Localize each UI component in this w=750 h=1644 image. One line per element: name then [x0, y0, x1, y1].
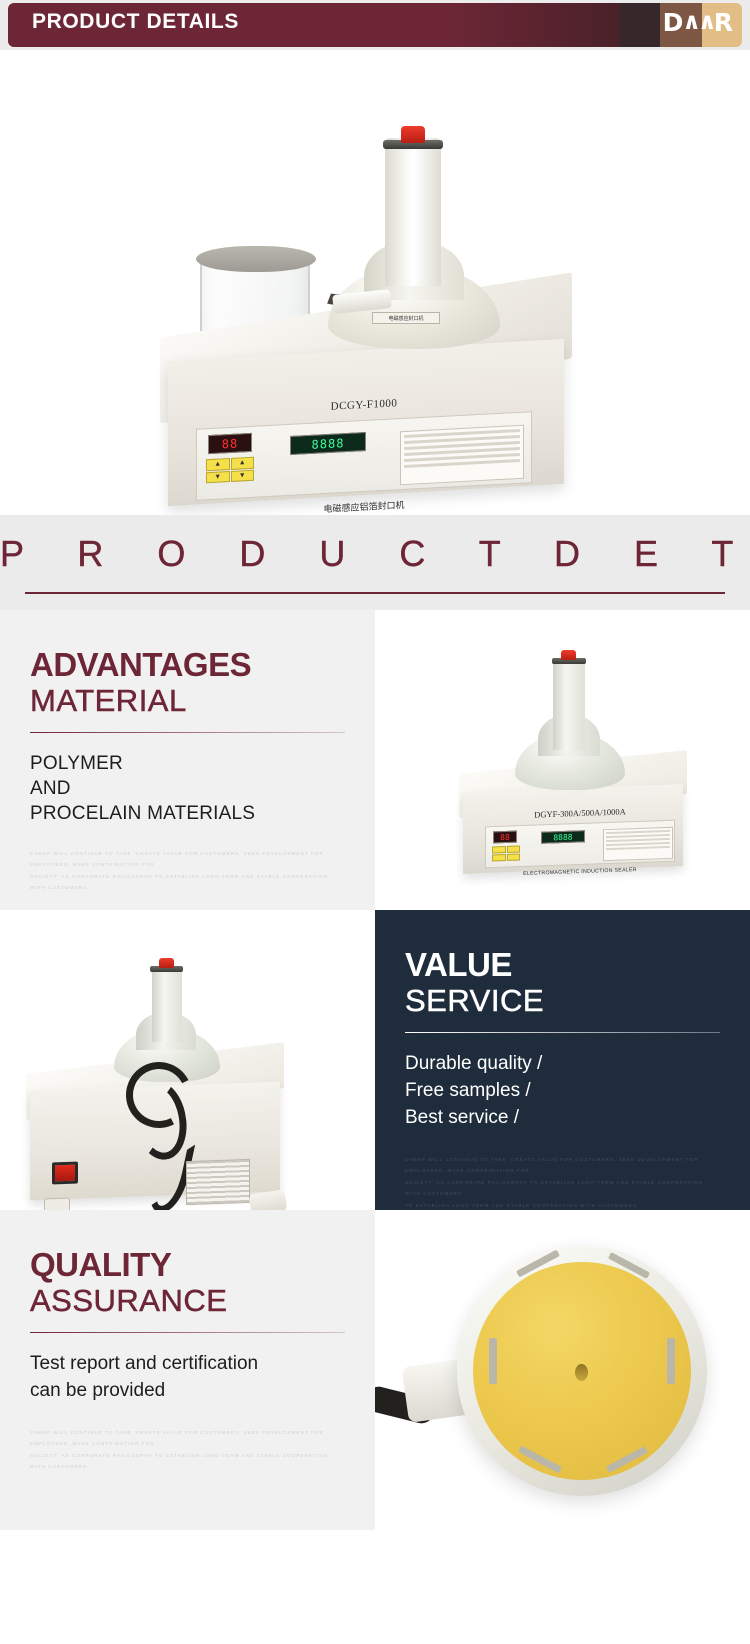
fineprint-line-3: TO ESTABLISH LONG-TERM AND STABLE COOPER…: [405, 1200, 720, 1210]
ring-slot-left: [489, 1338, 497, 1384]
detail-grid: ADVANTAGES MATERIAL POLYMER AND PROCELAI…: [0, 610, 750, 1644]
advantages-body-line-2: AND: [30, 776, 345, 801]
machine2-keypad[interactable]: [492, 846, 520, 862]
machine2-red-led: 88: [493, 831, 517, 844]
value-divider: [405, 1032, 720, 1033]
fineprint-line-2: SOCIETY’ AS CORPORATE PHILOSOPHY TO ESTA…: [30, 1450, 345, 1473]
quality-text-block: QUALITY ASSURANCE Test report and certif…: [0, 1210, 375, 1473]
machine2-instruction-plate: [603, 827, 673, 861]
hero-product-photo: 电磁感应封口机 DCGY-F1000 88 8888 ▲ ▲ ▼ ▼: [0, 50, 750, 515]
product-detail-page: PRODUCT DETAILS D∧∧R 电磁感应封口机 DCGY-F1000 …: [0, 0, 750, 1644]
machine3-red-button[interactable]: [159, 958, 174, 968]
value-text-block: VALUE SERVICE Durable quality / Free sam…: [375, 910, 750, 1210]
fineprint-line-1: CHENF WILL CONTINUE TO TAKE ‘CREATE VALU…: [30, 848, 345, 871]
page-title: PRODUCT DETAILS: [32, 0, 239, 44]
value-body-line-2: Free samples /: [405, 1078, 720, 1105]
value-text-cell: VALUE SERVICE Durable quality / Free sam…: [375, 910, 750, 1210]
quality-divider: [30, 1332, 345, 1333]
machine3-head-neck: [152, 966, 182, 1042]
machine-rear-photo-cell: [0, 910, 375, 1210]
machine2-green-led: 8888: [541, 830, 585, 844]
fineprint-line-1: CHENF WILL CONTINUE TO TAKE ‘CREATE VALU…: [405, 1154, 720, 1177]
brand-logo: D∧∧R: [663, 0, 732, 44]
advantages-body-line-3: PROCELAIN MATERIALS: [30, 801, 345, 826]
top-header-bar: PRODUCT DETAILS D∧∧R: [0, 0, 750, 50]
advantages-text-block: ADVANTAGES MATERIAL POLYMER AND PROCELAI…: [0, 610, 375, 894]
advantages-body-line-1: POLYMER: [30, 751, 345, 776]
logo-letter-d: D: [663, 8, 683, 37]
instruction-plate: [400, 425, 524, 485]
machine-front-photo-cell: DGYF-300A/500A/1000A 88 8888 ELE: [375, 610, 750, 910]
value-body-line-1: Durable quality /: [405, 1051, 720, 1078]
machine2-head-neck: [553, 658, 585, 750]
quality-heading: QUALITY: [30, 1248, 345, 1282]
quality-body-line-2: can be provided: [30, 1378, 345, 1405]
sealing-head-neck: [385, 138, 441, 286]
arrow-keypad[interactable]: ▲ ▲ ▼ ▼: [206, 457, 254, 484]
rocker-power-switch[interactable]: [52, 1162, 78, 1185]
green-led-display: 8888: [290, 432, 366, 455]
section-title-band: P R O D U C T D E T A I L: [0, 515, 750, 610]
advantages-text-cell: ADVANTAGES MATERIAL POLYMER AND PROCELAI…: [0, 610, 375, 910]
section-title: P R O D U C T D E T A I L: [0, 533, 750, 575]
down-arrow-icon[interactable]: ▼: [206, 471, 230, 484]
fineprint-line-1: CHENF WILL CONTINUE TO TAKE ‘CREATE VALU…: [30, 1427, 345, 1450]
up-arrow-icon-2[interactable]: ▲: [231, 457, 255, 470]
machine2-red-button[interactable]: [561, 650, 576, 660]
logo-letter-r: R: [714, 8, 732, 37]
value-body-line-3: Best service /: [405, 1105, 720, 1132]
power-inlet-socket: [44, 1198, 70, 1210]
jar-foil-lid: [196, 246, 316, 272]
advantages-divider: [30, 732, 345, 733]
machine-front-illustration: DGYF-300A/500A/1000A 88 8888 ELE: [375, 610, 750, 910]
logo-middle-glyphs: ∧∧: [682, 9, 713, 35]
advantages-subheading: MATERIAL: [30, 684, 345, 718]
fineprint-line-2: SOCIETY’ AS CORPORATE PHILOSOPHY TO ESTA…: [30, 871, 345, 894]
quality-subheading: ASSURANCE: [30, 1284, 345, 1318]
fineprint-line-2: SOCIETY’ AS CORPORATE PHILOSOPHY TO ESTA…: [405, 1177, 720, 1200]
value-subheading: SERVICE: [405, 984, 720, 1018]
value-heading: VALUE: [405, 948, 720, 982]
machine-rear-illustration: [0, 910, 375, 1210]
up-arrow-icon-2[interactable]: [507, 846, 521, 853]
quality-body-line-1: Test report and certification: [30, 1351, 345, 1378]
head-label: 电磁感应封口机: [372, 312, 440, 324]
hero-machine-illustration: 电磁感应封口机 DCGY-F1000 88 8888 ▲ ▲ ▼ ▼: [0, 50, 750, 515]
sealing-head-illustration: [375, 1210, 750, 1530]
down-arrow-icon-2[interactable]: ▼: [231, 469, 255, 482]
advantages-fineprint: CHENF WILL CONTINUE TO TAKE ‘CREATE VALU…: [30, 848, 345, 894]
advantages-heading: ADVANTAGES: [30, 648, 345, 682]
sealing-head-photo-cell: [375, 1210, 750, 1530]
up-arrow-icon[interactable]: [492, 846, 506, 853]
red-power-button[interactable]: [401, 126, 425, 143]
red-led-display: 88: [208, 433, 252, 454]
coil-center-hole: [575, 1364, 588, 1381]
quality-text-cell: QUALITY ASSURANCE Test report and certif…: [0, 1210, 375, 1530]
header-segment-dark-brown: [620, 3, 660, 47]
down-arrow-icon-2[interactable]: [507, 854, 521, 861]
ventilation-grille: [186, 1159, 250, 1205]
value-fineprint: CHENF WILL CONTINUE TO TAKE ‘CREATE VALU…: [405, 1154, 720, 1210]
section-title-underline: [25, 592, 725, 594]
plate-line: [606, 846, 670, 850]
quality-fineprint: CHENF WILL CONTINUE TO TAKE ‘CREATE VALU…: [30, 1427, 345, 1473]
ring-slot-right: [667, 1338, 675, 1384]
down-arrow-icon[interactable]: [492, 854, 506, 861]
up-arrow-icon[interactable]: ▲: [206, 458, 230, 471]
